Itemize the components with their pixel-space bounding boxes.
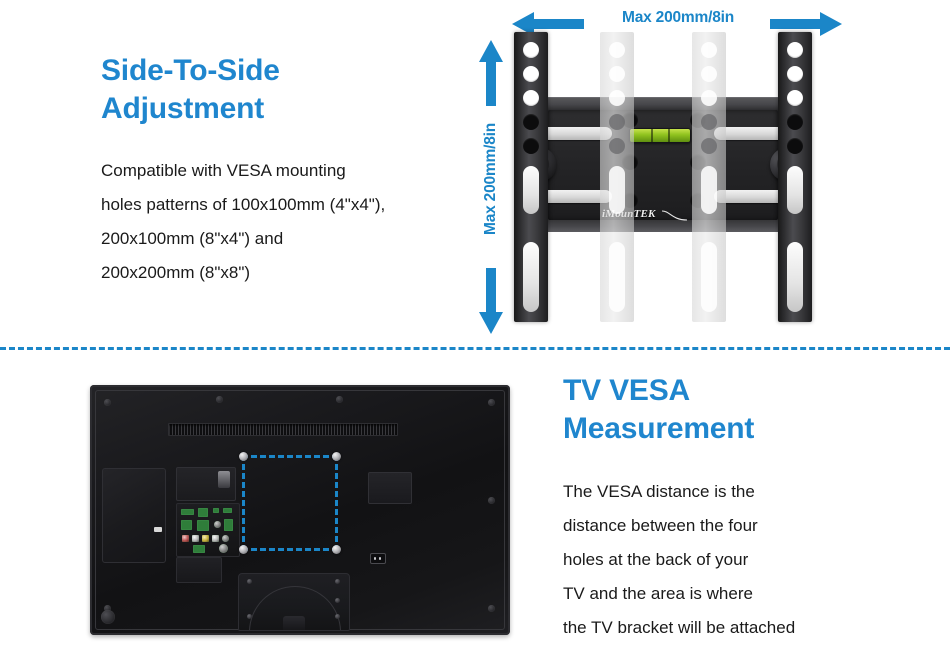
backplate-top-lip: [516, 97, 810, 111]
chassis-screw: [336, 396, 343, 403]
vertical-rail-ghost: [600, 32, 634, 322]
chassis-screw: [104, 399, 111, 406]
tv-stand-mount-plate: [238, 573, 350, 631]
vertical-rail: [778, 32, 812, 322]
lan-port: [181, 520, 192, 530]
audio-jack: [214, 521, 221, 528]
tv-vesa-heading: TV VESA Measurement: [563, 372, 903, 448]
rail-slot: [609, 242, 625, 312]
rail-hole: [701, 90, 717, 106]
rail-hole: [787, 90, 803, 106]
rail-hole: [609, 42, 625, 58]
rail-slot: [787, 242, 803, 312]
tv-port-bay: [176, 503, 240, 557]
rca-red-jack: [182, 535, 189, 542]
side-to-side-body-text: Compatible with VESA mounting holes patt…: [101, 154, 461, 290]
rail-hole: [609, 114, 625, 130]
antenna-port: [223, 508, 232, 513]
chassis-screw: [488, 605, 495, 612]
vesa-mounting-screw: [239, 452, 248, 461]
rca-yellow-jack: [202, 535, 209, 542]
rail-hole: [787, 114, 803, 130]
tv-back-illustration: [90, 385, 510, 635]
tuner-port: [193, 545, 205, 553]
vertical-rail-ghost: [692, 32, 726, 322]
vesa-mounting-screw: [332, 452, 341, 461]
section-divider: [0, 347, 950, 350]
service-port: [213, 508, 219, 513]
audio-jack: [222, 535, 229, 542]
rail-hole: [523, 66, 539, 82]
rail-hole: [787, 42, 803, 58]
tv-cable-cover-latch: [154, 527, 162, 532]
usb-port: [198, 508, 208, 517]
rail-hole: [787, 138, 803, 154]
vesa-mounting-screw: [239, 545, 248, 554]
tv-power-inlet: [370, 553, 386, 564]
stand-screw: [335, 614, 340, 619]
optical-port: [224, 519, 233, 531]
rail-hole: [523, 114, 539, 130]
vesa-mounting-screw: [332, 545, 341, 554]
rail-hole: [701, 138, 717, 154]
side-to-side-heading: Side-To-Side Adjustment: [101, 52, 431, 128]
tv-vent-strip: [168, 423, 398, 436]
brand-swoosh-icon: [662, 210, 688, 222]
rail-hole: [523, 90, 539, 106]
chassis-corner-screw: [101, 610, 115, 624]
rca-white-jack: [212, 535, 219, 542]
rca-white-jack: [192, 535, 199, 542]
bubble-level-indicator: [629, 128, 691, 143]
chassis-screw: [488, 497, 495, 504]
chassis-screw: [488, 399, 495, 406]
horizontal-range-label: Max 200mm/8in: [590, 9, 766, 27]
stand-screw: [335, 579, 340, 584]
rail-hole: [787, 66, 803, 82]
rail-hole: [523, 42, 539, 58]
tv-lower-recess-panel: [176, 557, 222, 583]
arrow-down-icon: [479, 268, 503, 334]
tv-stand-neck: [283, 616, 305, 630]
vertical-rail: [514, 32, 548, 322]
rail-slot: [523, 242, 539, 312]
wall-mount-assembly: iMounTEK: [514, 32, 812, 322]
rail-slot: [609, 166, 625, 214]
rail-slot: [523, 166, 539, 214]
vertical-range-label: Max 200mm/8in: [482, 99, 500, 259]
infographic-page: Side-To-Side Adjustment Compatible with …: [0, 0, 950, 650]
rail-slot: [701, 166, 717, 214]
chassis-screw: [216, 396, 223, 403]
bracket-illustration: Max 200mm/8in Max 200mm/8in: [470, 0, 950, 340]
tv-connector-tab: [218, 471, 230, 488]
component-port: [197, 520, 209, 531]
tv-chassis: [90, 385, 510, 635]
rail-hole: [523, 138, 539, 154]
rail-slot: [701, 242, 717, 312]
rail-hole: [609, 90, 625, 106]
rail-slot: [787, 166, 803, 214]
vesa-hole-pattern-outline: [242, 455, 338, 551]
rail-hole: [701, 114, 717, 130]
tv-cable-cover-panel: [102, 468, 166, 563]
stand-screw: [335, 598, 340, 603]
rail-hole: [609, 66, 625, 82]
tv-right-recess-panel: [368, 472, 412, 504]
rail-hole: [701, 42, 717, 58]
coax-connector: [219, 544, 228, 553]
tv-vesa-body-text: The VESA distance is the distance betwee…: [563, 475, 933, 645]
stand-screw: [247, 614, 252, 619]
rail-hole: [609, 138, 625, 154]
hdmi-port: [181, 509, 194, 515]
arrow-up-icon: [479, 40, 503, 106]
stand-screw: [247, 579, 252, 584]
rail-hole: [701, 66, 717, 82]
